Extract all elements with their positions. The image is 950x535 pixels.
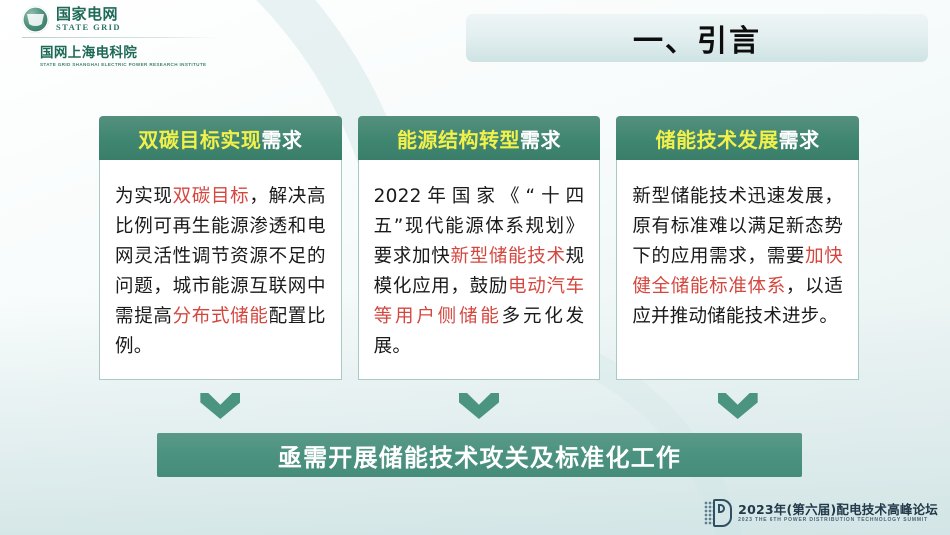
card-header: 能源结构转型 需求: [358, 116, 601, 160]
card-storage-technology: 储能技术发展 需求 新型储能技术迅速发展，原有标准难以满足新态势下的应用需求，需…: [616, 116, 859, 380]
slide-root: 国家电网 STATE GRID 国网上海电科院 STATE GRID SHANG…: [0, 0, 950, 535]
chevron-down-icon: [718, 393, 758, 419]
card-body: 为实现双碳目标，解决高比例可再生能源渗透和电网灵活性调节资源不足的问题，城市能源…: [99, 160, 342, 380]
card-header-plain: 需求: [520, 124, 561, 153]
chevron-down-icon: [459, 393, 499, 419]
card-header: 双碳目标实现 需求: [99, 116, 342, 160]
card-energy-transition: 能源结构转型 需求 2022年国家《“十四五”现代能源体系规划》要求加快新型储能…: [358, 116, 601, 380]
emphasized-phrase: 分布式储能: [173, 306, 269, 327]
card-body: 新型储能技术迅速发展，原有标准难以满足新态势下的应用需求，需要加快健全储能标准体…: [616, 160, 859, 380]
card-body: 2022年国家《“十四五”现代能源体系规划》要求加快新型储能技术规模化应用，鼓励…: [358, 160, 601, 380]
card-header-highlight: 储能技术发展: [656, 124, 779, 153]
footer-title-cn: 2023年(第六届)配电技术高峰论坛: [738, 503, 938, 516]
brand-institute-cn: 国网上海电科院: [40, 41, 222, 61]
page-title: 一、引言: [633, 16, 761, 60]
conclusion-text: 亟需开展储能技术攻关及标准化工作: [278, 438, 681, 473]
card-header-highlight: 能源结构转型: [397, 124, 520, 153]
forum-p-monogram-icon: [704, 499, 732, 527]
card-header: 储能技术发展 需求: [616, 116, 859, 160]
connector-cell: [99, 393, 342, 419]
brand-logo-primary-row: 国家电网 STATE GRID: [22, 6, 222, 33]
connector-cell: [616, 393, 859, 419]
forum-letter-p-icon: [713, 499, 732, 527]
card-dual-carbon: 双碳目标实现 需求 为实现双碳目标，解决高比例可再生能源渗透和电网灵活性调节资源…: [99, 116, 342, 380]
body-phrase: 为实现: [115, 186, 173, 207]
slide-title-pill: 一、引言: [466, 14, 928, 62]
brand-logo-words: 国家电网 STATE GRID: [56, 7, 121, 32]
brand-logo: 国家电网 STATE GRID 国网上海电科院 STATE GRID SHANG…: [22, 6, 222, 67]
brand-company-cn: 国家电网: [56, 7, 121, 22]
brand-logo-divider: [22, 37, 218, 38]
emphasized-phrase: 双碳目标: [173, 186, 250, 207]
footer-words: 2023年(第六届)配电技术高峰论坛 2023 THE 6TH POWER DI…: [738, 503, 938, 523]
footer-forum-logo: 2023年(第六届)配电技术高峰论坛 2023 THE 6TH POWER DI…: [704, 499, 938, 527]
emphasized-phrase: 新型储能技术: [450, 246, 565, 267]
card-header-highlight: 双碳目标实现: [138, 124, 261, 153]
requirement-cards: 双碳目标实现 需求 为实现双碳目标，解决高比例可再生能源渗透和电网灵活性调节资源…: [99, 116, 859, 380]
card-header-plain: 需求: [261, 124, 302, 153]
card-header-plain: 需求: [779, 124, 820, 153]
connector-cell: [358, 393, 601, 419]
chevron-down-icon: [200, 393, 240, 419]
conclusion-banner: 亟需开展储能技术攻关及标准化工作: [157, 433, 802, 477]
footer-title-en: 2023 THE 6TH POWER DISTRIBUTION TECHNOLO…: [738, 518, 938, 523]
connector-row: [99, 393, 859, 419]
state-grid-globe-icon: [22, 6, 49, 33]
brand-company-en: STATE GRID: [56, 23, 121, 32]
brand-institute-en: STATE GRID SHANGHAI ELECTRIC POWER RESEA…: [40, 62, 222, 67]
